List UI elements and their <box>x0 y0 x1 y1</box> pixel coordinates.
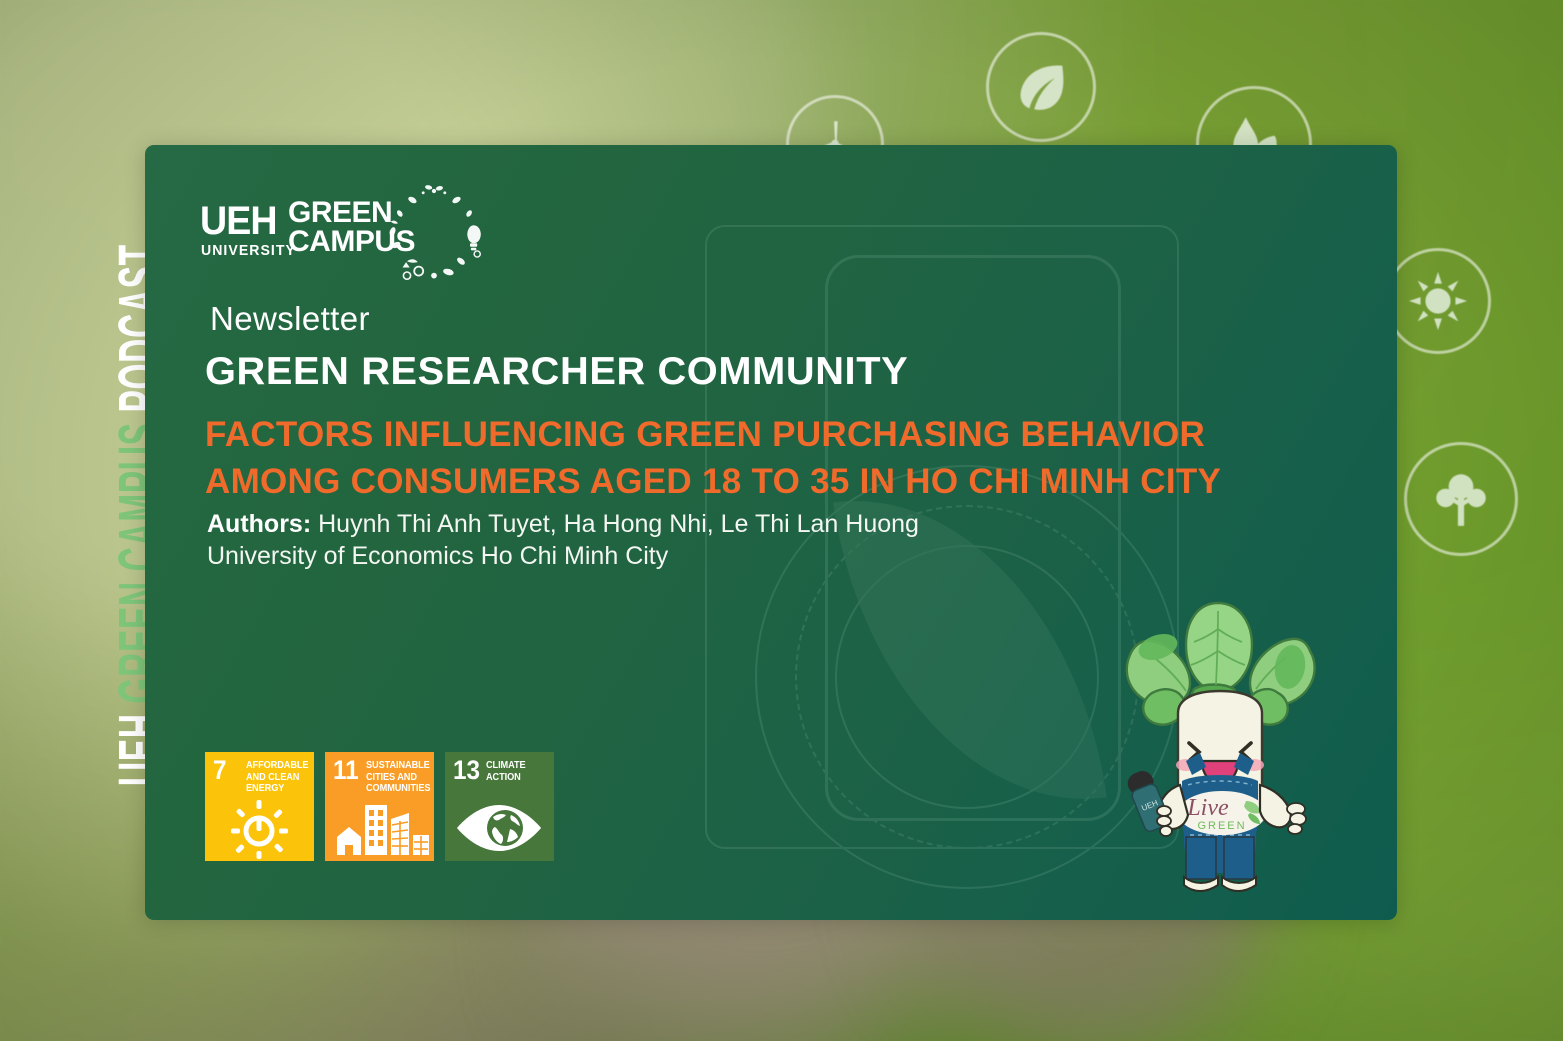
article-title: FACTORS INFLUENCING GREEN PURCHASING BEH… <box>205 411 1325 505</box>
eco-wreath-icon <box>380 182 488 290</box>
sdg-badge-row: 7 AFFORDABLE AND CLEAN ENERGY <box>205 752 554 861</box>
authors-affiliation: University of Economics Ho Chi Minh City <box>207 540 1307 572</box>
sdg-7-text: AFFORDABLE AND CLEAN ENERGY <box>246 760 305 795</box>
leaf-icon <box>986 32 1096 142</box>
sdg-7-number: 7 <box>213 757 227 784</box>
sun-icon <box>1385 248 1491 354</box>
authors-block: Authors: Huynh Thi Anh Tuyet, Ha Hong Nh… <box>207 508 1307 572</box>
authors-label: Authors: <box>207 510 311 538</box>
sdg-13-text: CLIMATE ACTION <box>486 760 545 783</box>
poster-canvas: UEH GREEN CAMPUS PODCAST UEH UNIVERSITY … <box>0 0 1563 1041</box>
authors-names: Huynh Thi Anh Tuyet, Ha Hong Nhi, Le Thi… <box>318 510 919 538</box>
tree-icon <box>1404 442 1518 556</box>
sdg-badge-7: 7 AFFORDABLE AND CLEAN ENERGY <box>205 752 314 861</box>
logo-ueh-text: UEH <box>200 202 277 240</box>
sdg-11-text: SUSTAINABLE CITIES AND COMMUNITIES <box>366 760 425 795</box>
live-green-badge: Live GREEN <box>1178 791 1266 835</box>
sun-power-icon <box>205 797 314 859</box>
eye-globe-icon <box>445 797 554 859</box>
logo-university-text: UNIVERSITY <box>201 242 296 259</box>
ueh-green-campus-logo: UEH UNIVERSITY GREEN CAMPUS <box>200 186 460 291</box>
eyebrow-newsletter: Newsletter <box>210 300 370 338</box>
sdg-13-number: 13 <box>453 757 480 784</box>
series-heading: GREEN RESEARCHER COMMUNITY <box>205 350 908 394</box>
bok-choy-podcast-mascot: Live GREEN UEH <box>1090 585 1350 900</box>
svg-text:Live: Live <box>1186 795 1229 821</box>
city-buildings-icon <box>325 797 434 859</box>
sdg-badge-13: 13 CLIMATE ACTION <box>445 752 554 861</box>
sdg-badge-11: 11 SUSTAINABLE CITIES AND COMMUNITIES <box>325 752 434 861</box>
sdg-11-number: 11 <box>333 757 359 784</box>
svg-text:GREEN: GREEN <box>1197 820 1246 832</box>
